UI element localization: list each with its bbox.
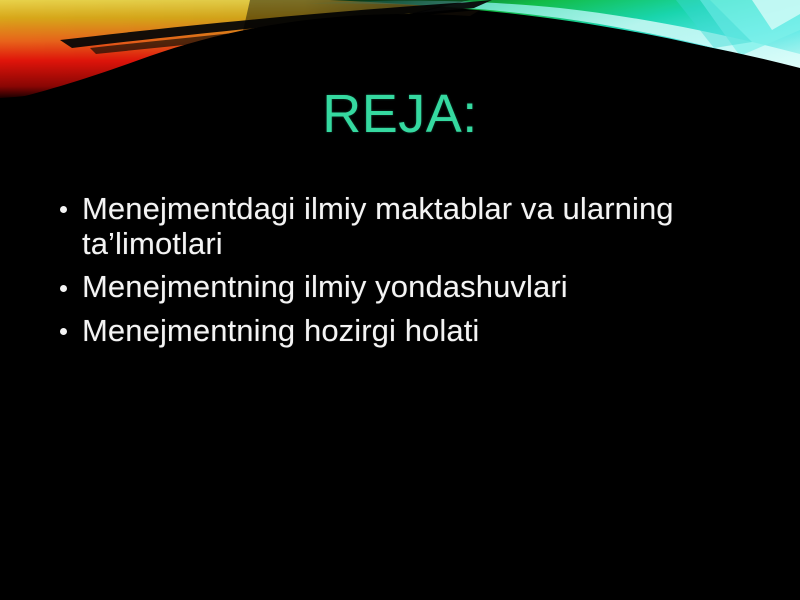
- bullet-point-icon: [60, 328, 67, 335]
- list-item-label: Menejmentdagi ilmiy maktablar va ularnin…: [82, 192, 755, 261]
- bullet-point-icon: [60, 206, 67, 213]
- list-item-label: Menejmentning ilmiy yondashuvlari: [82, 270, 755, 305]
- list-item: Menejmentning ilmiy yondashuvlari: [55, 270, 755, 305]
- list-item: Menejmentning hozirgi holati: [55, 314, 755, 349]
- list-item-label: Menejmentning hozirgi holati: [82, 314, 755, 349]
- page-title: REJA:: [0, 86, 800, 143]
- bullet-list: Menejmentdagi ilmiy maktablar va ularnin…: [55, 192, 755, 358]
- bullet-point-icon: [60, 285, 67, 292]
- presentation-slide: REJA: Menejmentdagi ilmiy maktablar va u…: [0, 0, 800, 600]
- list-item: Menejmentdagi ilmiy maktablar va ularnin…: [55, 192, 755, 261]
